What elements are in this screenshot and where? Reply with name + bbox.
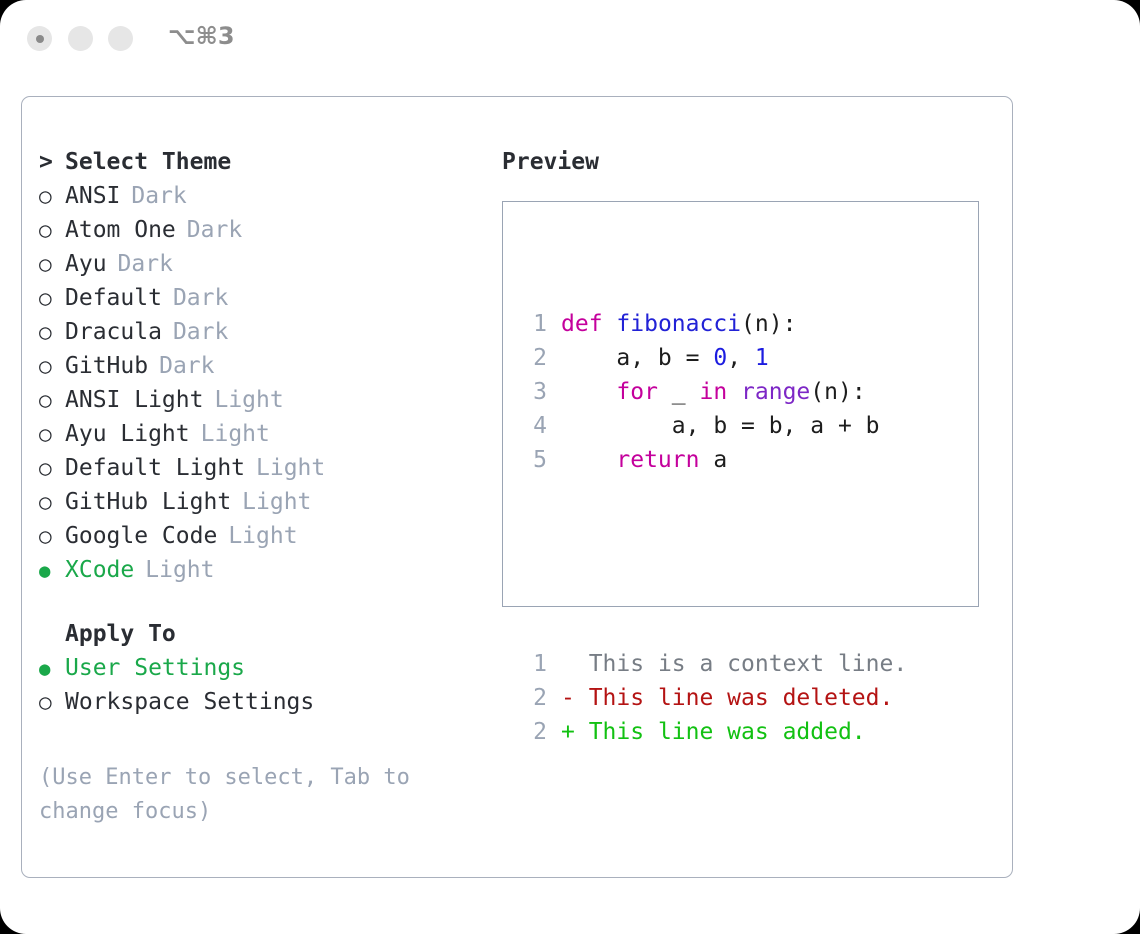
diff-marker: - — [561, 685, 575, 711]
theme-option-variant: Dark — [131, 179, 186, 213]
radio-unselected-icon[interactable]: ○ — [39, 315, 65, 349]
code-gap — [523, 545, 907, 579]
apply-to-title: Apply To — [65, 617, 176, 651]
code-token: a, b = — [561, 345, 713, 371]
code-token: for — [616, 379, 658, 405]
traffic-light-dot-3[interactable] — [108, 26, 133, 51]
theme-option-row[interactable]: ○ANSI LightLight — [39, 383, 499, 417]
line-number: 5 — [523, 443, 547, 477]
apply-to-option-row[interactable]: ●User Settings — [39, 651, 499, 685]
code-sample: 1def fibonacci(n):2 a, b = 0, 13 for _ i… — [523, 239, 907, 817]
code-token — [727, 379, 741, 405]
theme-option-name: Default — [65, 281, 162, 315]
radio-unselected-icon[interactable]: ○ — [39, 685, 65, 719]
active-indicator-icon — [36, 35, 44, 43]
line-number: 4 — [523, 409, 547, 443]
theme-list-title: Select Theme — [65, 145, 231, 179]
theme-option-name: Dracula — [65, 315, 162, 349]
code-line: 4 a, b = b, a + b — [523, 409, 907, 443]
preview-title: Preview — [502, 145, 992, 179]
theme-option-name: ANSI — [65, 179, 120, 213]
theme-option-row[interactable]: ○GitHubDark — [39, 349, 499, 383]
diff-line: 2- This line was deleted. — [523, 681, 907, 715]
theme-option-variant: Light — [145, 553, 214, 587]
radio-unselected-icon[interactable]: ○ — [39, 247, 65, 281]
theme-option-row[interactable]: ○GitHub LightLight — [39, 485, 499, 519]
theme-option-variant: Dark — [187, 213, 242, 247]
code-line: 2 a, b = 0, 1 — [523, 341, 907, 375]
theme-option-variant: Light — [228, 519, 297, 553]
theme-option-row[interactable]: ○Ayu LightLight — [39, 417, 499, 451]
title-bar: ⌥⌘3 — [0, 0, 1140, 78]
line-number: 3 — [523, 375, 547, 409]
theme-option-variant: Dark — [159, 349, 214, 383]
code-token: def — [561, 311, 603, 337]
apply-to-option-label: User Settings — [65, 651, 245, 685]
theme-option-variant: Dark — [173, 281, 228, 315]
caret-icon: > — [39, 145, 65, 179]
line-number: 1 — [523, 307, 547, 341]
theme-option-name: Ayu Light — [65, 417, 190, 451]
theme-option-row[interactable]: ○DraculaDark — [39, 315, 499, 349]
radio-unselected-icon[interactable]: ○ — [39, 383, 65, 417]
diff-line-number: 2 — [523, 681, 547, 715]
theme-option-variant: Light — [256, 451, 325, 485]
diff-line-number: 2 — [523, 715, 547, 749]
code-token: fibonacci — [616, 311, 741, 337]
radio-unselected-icon[interactable]: ○ — [39, 519, 65, 553]
apply-to-option-row[interactable]: ○Workspace Settings — [39, 685, 499, 719]
code-line: 5 return a — [523, 443, 907, 477]
hint-text: (Use Enter to select, Tab to change focu… — [39, 761, 459, 829]
code-line: 1def fibonacci(n): — [523, 307, 907, 341]
code-token: range — [741, 379, 810, 405]
radio-selected-icon[interactable]: ● — [39, 554, 65, 588]
apply-to-header: Apply To — [39, 617, 499, 651]
theme-option-row[interactable]: ○AyuDark — [39, 247, 499, 281]
theme-option-variant: Light — [242, 485, 311, 519]
code-token — [561, 379, 616, 405]
radio-unselected-icon[interactable]: ○ — [39, 179, 65, 213]
theme-option-variant: Light — [214, 383, 283, 417]
radio-unselected-icon[interactable]: ○ — [39, 417, 65, 451]
diff-marker: + — [561, 719, 575, 745]
traffic-light-dot-1[interactable] — [27, 26, 52, 51]
apply-to-option-label: Workspace Settings — [65, 685, 314, 719]
code-token: a — [699, 447, 727, 473]
radio-unselected-icon[interactable]: ○ — [39, 451, 65, 485]
code-line: 3 for _ in range(n): — [523, 375, 907, 409]
code-token: return — [616, 447, 699, 473]
code-token: , — [727, 345, 755, 371]
theme-option-row[interactable]: ○ANSIDark — [39, 179, 499, 213]
app-window: ⌥⌘3 > Select Theme ○ANSIDark○Atom OneDar… — [0, 0, 1140, 934]
code-token — [603, 311, 617, 337]
theme-option-name: Atom One — [65, 213, 176, 247]
diff-marker — [561, 651, 575, 677]
code-token: 0 — [713, 345, 727, 371]
code-token: in — [699, 379, 727, 405]
theme-options-list: ○ANSIDark○Atom OneDark○AyuDark○DefaultDa… — [39, 179, 499, 587]
theme-option-name: Ayu — [65, 247, 107, 281]
theme-option-name: GitHub — [65, 349, 148, 383]
radio-unselected-icon[interactable]: ○ — [39, 213, 65, 247]
theme-list-header: > Select Theme — [39, 145, 499, 179]
code-token: a, b = b, a + b — [561, 413, 880, 439]
line-number: 2 — [523, 341, 547, 375]
radio-unselected-icon[interactable]: ○ — [39, 281, 65, 315]
theme-list-column: > Select Theme ○ANSIDark○Atom OneDark○Ay… — [39, 145, 499, 719]
radio-unselected-icon[interactable]: ○ — [39, 485, 65, 519]
preview-box: 1def fibonacci(n):2 a, b = 0, 13 for _ i… — [502, 201, 979, 607]
code-token: (n): — [741, 311, 796, 337]
diff-line: 1 This is a context line. — [523, 647, 907, 681]
theme-option-name: GitHub Light — [65, 485, 231, 519]
code-token: _ — [658, 379, 700, 405]
theme-option-row[interactable]: ○Default LightLight — [39, 451, 499, 485]
diff-text: This is a context line. — [575, 651, 907, 677]
diff-lines: 1 This is a context line.2- This line wa… — [523, 647, 907, 749]
code-token — [561, 447, 616, 473]
diff-line-number: 1 — [523, 647, 547, 681]
apply-to-options-list: ●User Settings○Workspace Settings — [39, 651, 499, 719]
theme-option-variant: Dark — [118, 247, 173, 281]
theme-option-row[interactable]: ●XCodeLight — [39, 553, 499, 587]
keyboard-shortcut-label: ⌥⌘3 — [168, 22, 235, 50]
radio-unselected-icon[interactable]: ○ — [39, 349, 65, 383]
theme-option-row[interactable]: ○Google CodeLight — [39, 519, 499, 553]
theme-option-variant: Dark — [173, 315, 228, 349]
radio-selected-icon[interactable]: ● — [39, 652, 65, 686]
theme-option-row[interactable]: ○Atom OneDark — [39, 213, 499, 247]
code-token: 1 — [755, 345, 769, 371]
code-lines: 1def fibonacci(n):2 a, b = 0, 13 for _ i… — [523, 307, 907, 477]
theme-option-variant: Light — [201, 417, 270, 451]
theme-option-name: ANSI Light — [65, 383, 203, 417]
code-token: (n): — [810, 379, 865, 405]
preview-column: Preview 1def fibonacci(n):2 a, b = 0, 13… — [502, 145, 992, 179]
traffic-light-dot-2[interactable] — [68, 26, 93, 51]
diff-line: 2+ This line was added. — [523, 715, 907, 749]
diff-text: This line was deleted. — [575, 685, 894, 711]
theme-option-row[interactable]: ○DefaultDark — [39, 281, 499, 315]
content-panel: > Select Theme ○ANSIDark○Atom OneDark○Ay… — [21, 96, 1013, 878]
theme-option-name: XCode — [65, 553, 134, 587]
theme-option-name: Default Light — [65, 451, 245, 485]
diff-text: This line was added. — [575, 719, 866, 745]
section-spacer — [39, 587, 499, 617]
theme-option-name: Google Code — [65, 519, 217, 553]
